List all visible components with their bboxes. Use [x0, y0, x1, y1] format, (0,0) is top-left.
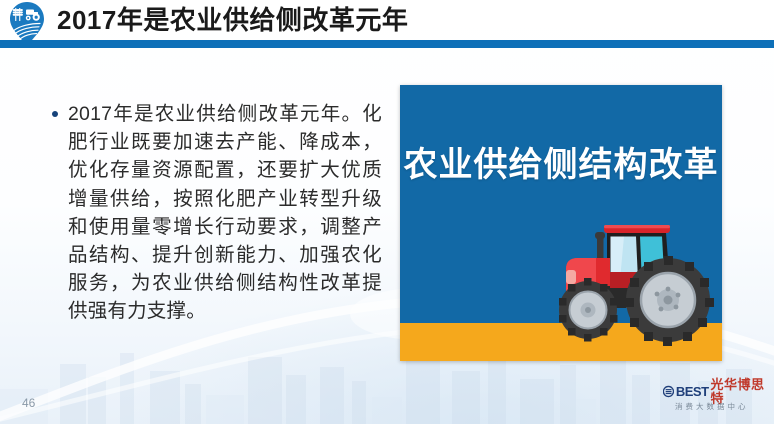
brand-circle-icon [663, 385, 674, 398]
slide-canvas: 2017年是农业供给侧改革元年 2017年是农业供给侧改革元年。化肥行业既要加速… [0, 0, 774, 424]
red-tractor-icon [552, 214, 717, 349]
page-number: 46 [22, 396, 35, 410]
bullet-paragraph: 2017年是农业供给侧改革元年。化肥行业既要加速去产能、降成本，优化存量资源配置… [68, 100, 382, 326]
brand-logo: BEST 光华博思特 消费大数据中心 [663, 383, 767, 417]
slide-header: 2017年是农业供给侧改革元年 [0, 0, 774, 48]
bullet-marker-icon [52, 111, 58, 117]
brand-subtitle: 消费大数据中心 [675, 401, 749, 412]
page-title: 2017年是农业供给侧改革元年 [57, 3, 408, 37]
illustration-caption: 农业供给侧结构改革 [400, 137, 722, 186]
illustration-card: 农业供给侧结构改革 [400, 85, 722, 361]
brand-mark: BEST [676, 385, 709, 399]
header-accent-bar [0, 40, 774, 48]
bullet-list: 2017年是农业供给侧改革元年。化肥行业既要加速去产能、降成本，优化存量资源配置… [52, 100, 382, 326]
